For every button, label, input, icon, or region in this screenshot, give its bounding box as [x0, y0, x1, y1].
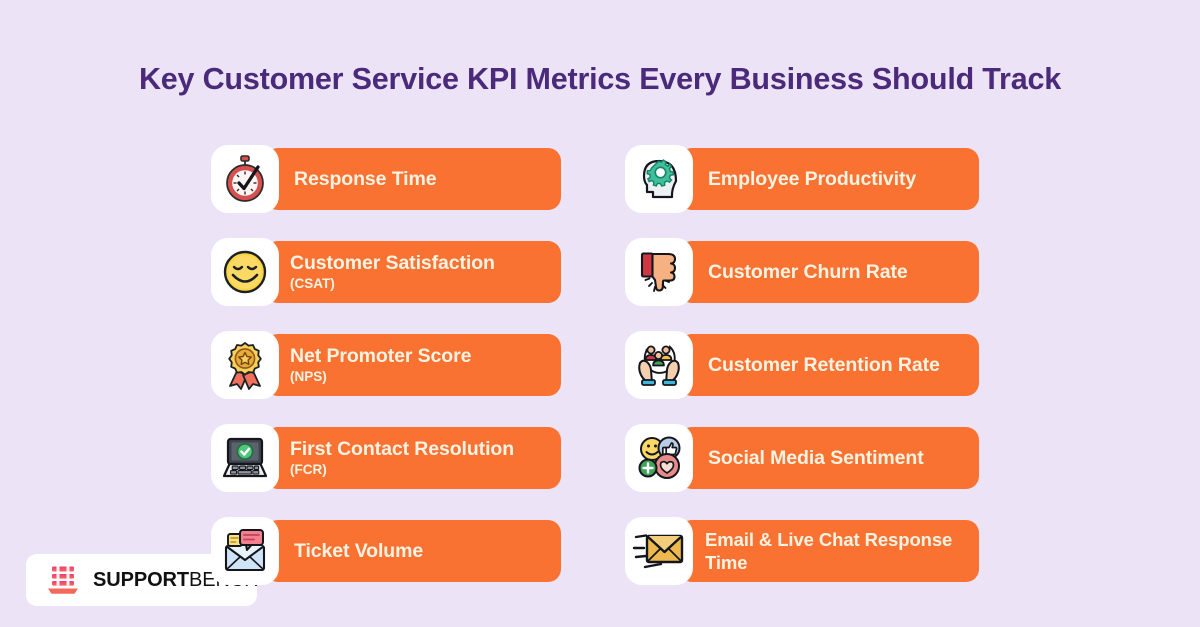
kpi-item-ticket-volume[interactable]: Ticket Volume	[211, 517, 561, 585]
kpi-label: Net Promoter Score	[290, 345, 545, 367]
kpi-sublabel: (FCR)	[290, 461, 545, 479]
kpi-sublabel: (NPS)	[290, 368, 545, 386]
kpi-pill[interactable]: Response Time	[265, 148, 561, 210]
kpi-pill[interactable]: Net Promoter Score (NPS)	[265, 334, 561, 396]
smiley-face-icon	[211, 238, 279, 306]
thumbs-down-icon	[625, 238, 693, 306]
kpi-column-right: Employee Productivity	[625, 145, 979, 585]
kpi-label: Customer Retention Rate	[708, 354, 963, 376]
envelope-chat-icon	[211, 517, 279, 585]
kpi-label: Response Time	[294, 168, 545, 190]
flying-envelope-icon	[625, 517, 693, 585]
kpi-label: Email & Live Chat Response Time	[705, 528, 963, 575]
kpi-pill[interactable]: Ticket Volume	[265, 520, 561, 582]
kpi-item-first-contact-resolution[interactable]: First Contact Resolution (FCR)	[211, 424, 561, 492]
kpi-label: Customer Churn Rate	[708, 261, 963, 283]
kpi-item-customer-churn-rate[interactable]: Customer Churn Rate	[625, 238, 979, 306]
hands-people-icon	[625, 331, 693, 399]
kpi-pill[interactable]: Customer Churn Rate	[679, 241, 979, 303]
kpi-item-email-live-chat-response-time[interactable]: Email & Live Chat Response Time	[625, 517, 979, 585]
kpi-item-employee-productivity[interactable]: Employee Productivity	[625, 145, 979, 213]
kpi-item-customer-retention-rate[interactable]: Customer Retention Rate	[625, 331, 979, 399]
award-badge-icon	[211, 331, 279, 399]
kpi-item-response-time[interactable]: Response Time	[211, 145, 561, 213]
kpi-label: Employee Productivity	[708, 168, 963, 190]
kpi-pill[interactable]: Customer Retention Rate	[679, 334, 979, 396]
kpi-label: Customer Satisfaction	[290, 252, 545, 274]
kpi-pill[interactable]: Customer Satisfaction (CSAT)	[265, 241, 561, 303]
stopwatch-icon	[211, 145, 279, 213]
kpi-pill[interactable]: Employee Productivity	[679, 148, 979, 210]
bench-logo-icon	[46, 565, 80, 595]
kpi-column-left: Response Time Customer Satisfaction (CSA…	[211, 145, 561, 585]
kpi-item-net-promoter-score[interactable]: Net Promoter Score (NPS)	[211, 331, 561, 399]
kpi-label: Social Media Sentiment	[708, 447, 963, 469]
kpi-item-social-media-sentiment[interactable]: Social Media Sentiment	[625, 424, 979, 492]
kpi-label: First Contact Resolution	[290, 438, 545, 460]
page-title: Key Customer Service KPI Metrics Every B…	[0, 62, 1200, 97]
kpi-pill[interactable]: Social Media Sentiment	[679, 427, 979, 489]
kpi-sublabel: (CSAT)	[290, 275, 545, 293]
infographic-canvas: Key Customer Service KPI Metrics Every B…	[0, 0, 1200, 627]
social-reactions-icon	[625, 424, 693, 492]
logo-word-support: SUPPORT	[93, 569, 189, 591]
head-gear-icon	[625, 145, 693, 213]
kpi-pill[interactable]: First Contact Resolution (FCR)	[265, 427, 561, 489]
kpi-item-customer-satisfaction[interactable]: Customer Satisfaction (CSAT)	[211, 238, 561, 306]
laptop-check-icon	[211, 424, 279, 492]
kpi-label: Ticket Volume	[294, 540, 545, 562]
kpi-pill[interactable]: Email & Live Chat Response Time	[679, 520, 979, 582]
